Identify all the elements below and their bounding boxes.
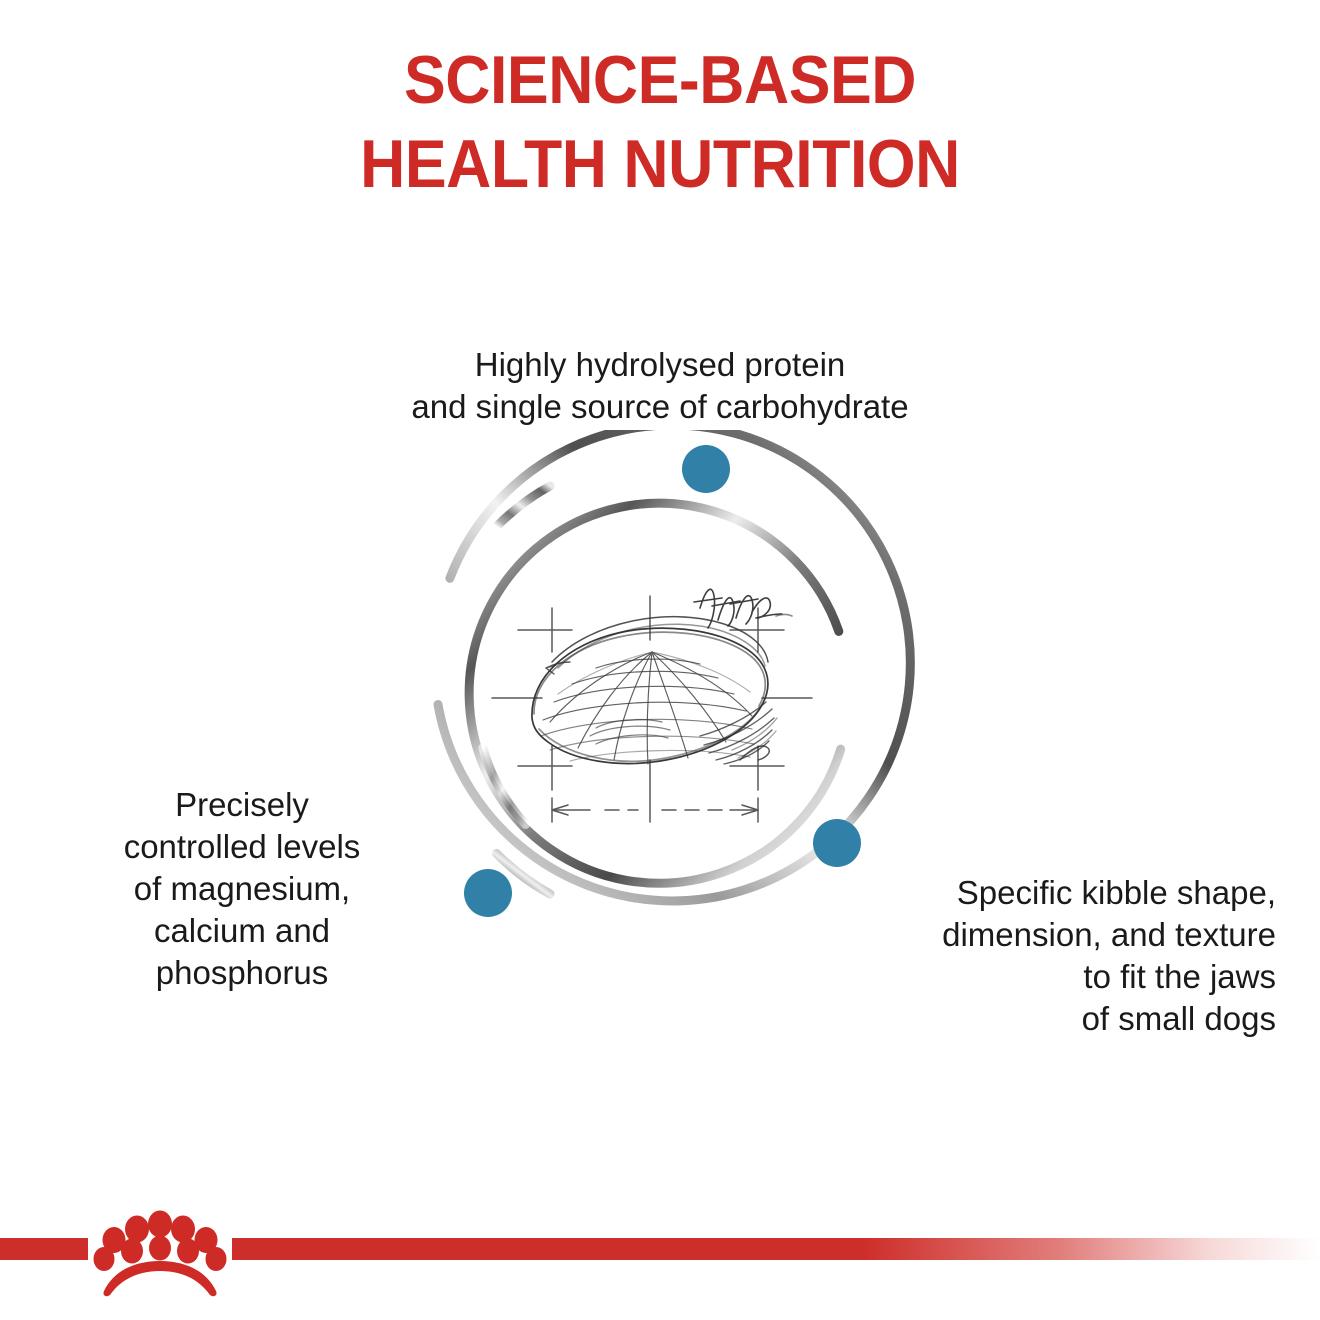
dot-right (813, 819, 861, 867)
callout-top-line-2: and single source of carbohydrate (0, 386, 1320, 428)
callout-top-line-1: Highly hydrolysed protein (0, 344, 1320, 386)
callout-right-line-1: Specific kibble shape, (866, 872, 1276, 914)
brand-bar-left-segment (0, 1238, 88, 1260)
kibble-inner-detail (590, 720, 670, 744)
page-title: SCIENCE-BASED HEALTH NUTRITION (0, 38, 1320, 206)
callout-top: Highly hydrolysed protein and single sou… (0, 344, 1320, 428)
title-line-2: HEALTH NUTRITION (53, 122, 1267, 206)
designer-annotation-scribble (694, 589, 792, 628)
kibble-technical-sketch (492, 589, 812, 822)
royal-canin-crown-icon (92, 1207, 228, 1299)
callout-right: Specific kibble shape, dimension, and te… (866, 872, 1276, 1040)
callout-left-line-1: Precisely (92, 784, 392, 826)
callout-left: Precisely controlled levels of magnesium… (92, 784, 392, 994)
callout-left-line-2: controlled levels (92, 826, 392, 868)
orbital-ring-diagram (400, 430, 920, 950)
dot-left (464, 869, 512, 917)
callout-left-line-4: calcium and (92, 910, 392, 952)
registration-marks (492, 596, 812, 822)
dot-top (682, 445, 730, 493)
dimension-line (552, 798, 758, 822)
brand-bar-right-segment (232, 1238, 1320, 1260)
callout-right-line-4: of small dogs (866, 998, 1276, 1040)
callout-right-line-3: to fit the jaws (866, 956, 1276, 998)
title-line-1: SCIENCE-BASED (53, 38, 1267, 122)
callout-right-line-2: dimension, and texture (866, 914, 1276, 956)
callout-left-line-3: of magnesium, (92, 868, 392, 910)
callout-left-line-5: phosphorus (92, 952, 392, 994)
outer-ring-segment-left (434, 578, 450, 704)
kibble-meridians (550, 652, 752, 764)
